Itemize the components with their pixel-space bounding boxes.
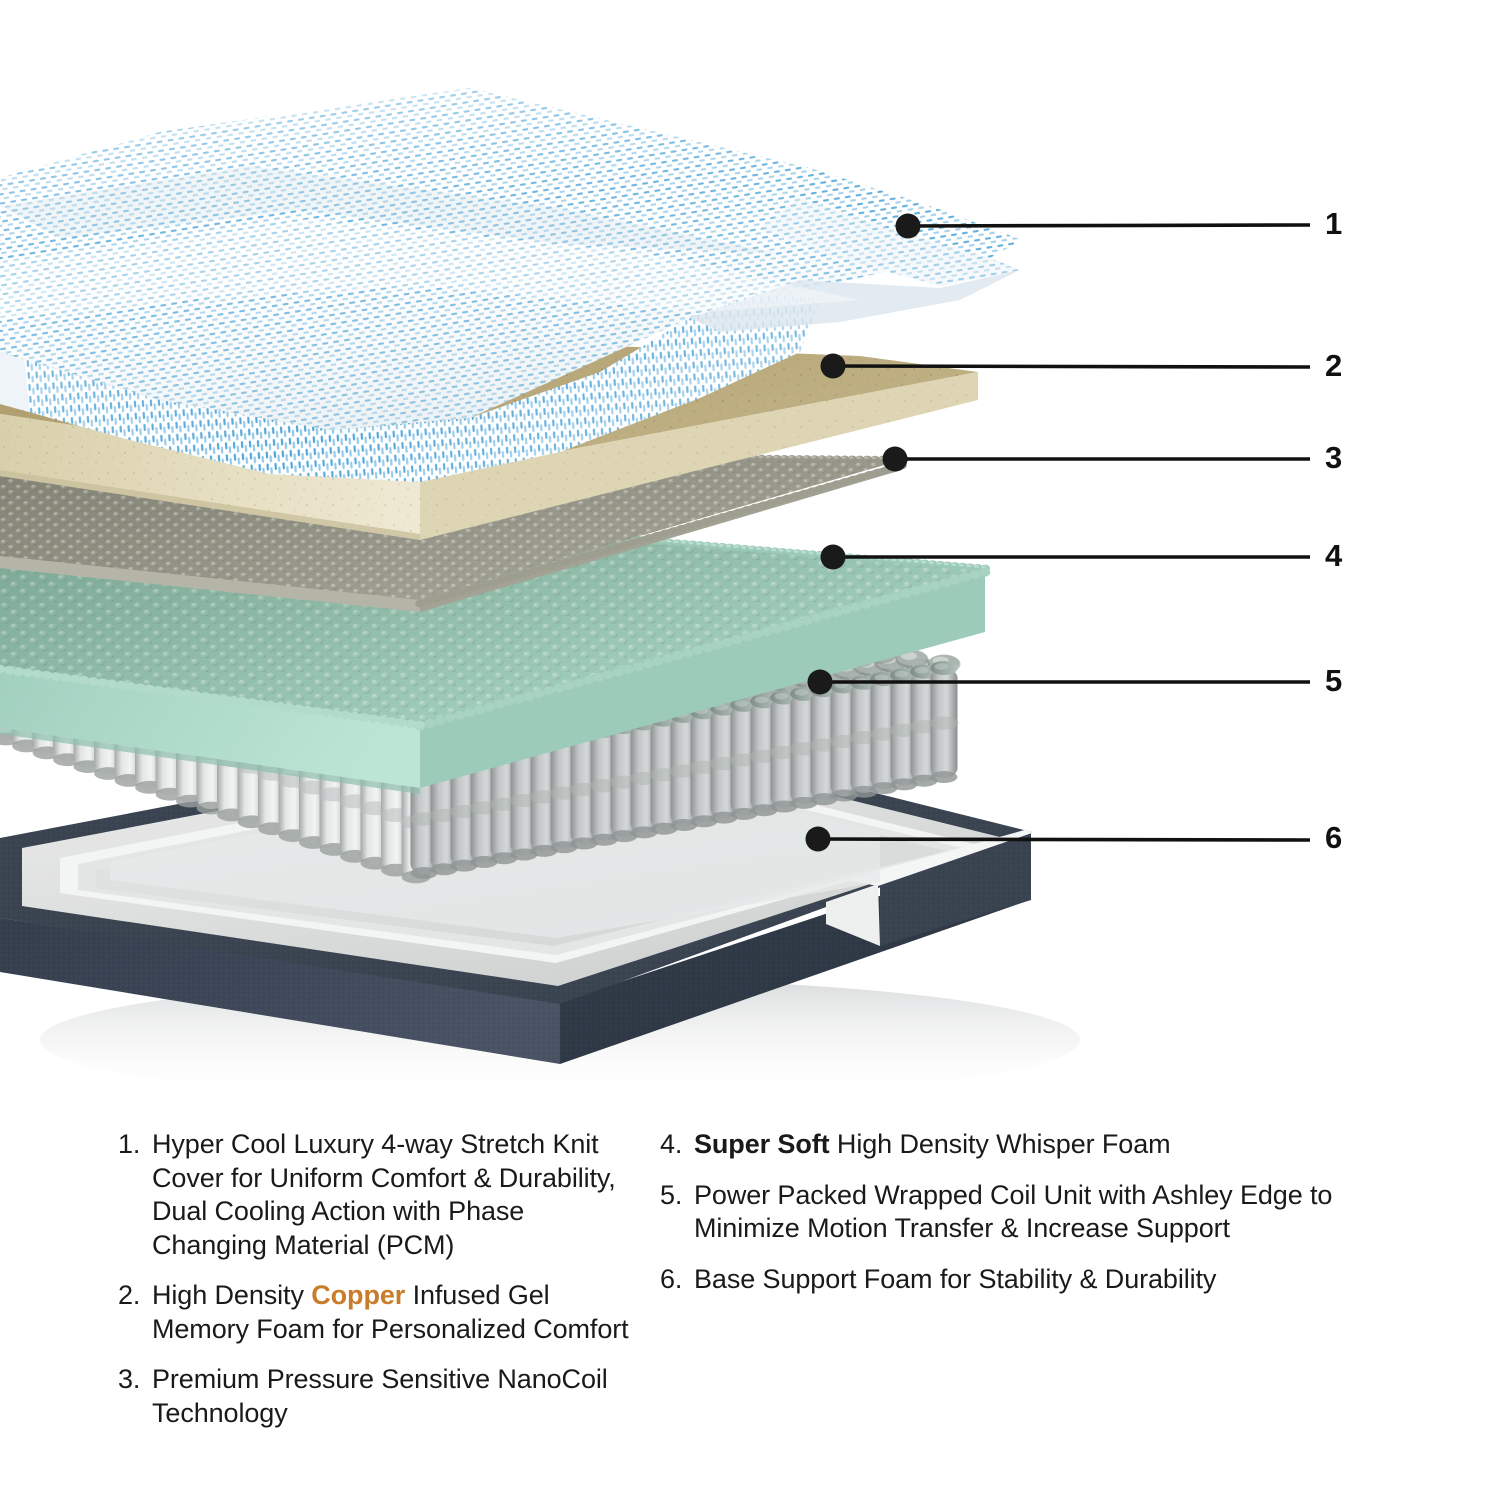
coil-cap: [880, 594, 891, 603]
coil-cap: [915, 667, 929, 674]
coil-cap: [505, 574, 515, 582]
coil-cap: [821, 611, 832, 620]
coil-cap: [758, 456, 762, 459]
legend-column-left: 1. Hyper Cool Luxury 4-way Stretch Knit …: [0, 1128, 640, 1447]
coil-cap: [494, 700, 505, 709]
coil-cap: [864, 456, 868, 459]
coil-cap: [762, 627, 773, 636]
coil-cap: [766, 456, 770, 459]
coil-cap: [841, 456, 845, 459]
coil-cap: [23, 668, 33, 677]
coil-cap: [750, 504, 760, 512]
coil-cap: [875, 674, 889, 681]
coil-cap: [135, 683, 145, 692]
coil-cap: [673, 540, 678, 543]
callout-number-6: 6: [1325, 822, 1342, 853]
coil-cap: [807, 487, 817, 495]
coil-cap: [238, 697, 248, 706]
coil-cap: [906, 559, 911, 562]
coil-cap: [489, 579, 499, 587]
legend-text-4: Super Soft High Density Whisper Foam: [694, 1128, 1340, 1162]
copper-highlight: Copper: [311, 1280, 405, 1310]
coil-cap: [668, 527, 678, 535]
coil-cap: [681, 541, 686, 544]
coil-cap: [766, 499, 776, 507]
coil-cap: [950, 576, 961, 585]
coil-cap: [662, 654, 673, 663]
coil-cap: [633, 662, 644, 671]
coil-cap: [742, 632, 753, 641]
coil-cap: [396, 718, 406, 727]
coil-cap: [172, 688, 182, 697]
legend-item-6: 6. Base Support Foam for Stability & Dur…: [660, 1263, 1340, 1297]
coil-cap: [873, 469, 883, 477]
coil-cap: [191, 691, 201, 700]
coil-cap: [595, 548, 605, 556]
legend-text-3: Premium Pressure Sensitive NanoCoil Tech…: [152, 1363, 640, 1430]
coil-cap: [794, 550, 799, 553]
coil-cap: [521, 569, 531, 577]
coil-cap: [711, 543, 716, 546]
coil-cap: [840, 478, 850, 486]
coil-cap: [406, 719, 416, 728]
coil-cap: [717, 513, 727, 521]
callout-number-5: 5: [1325, 665, 1342, 696]
legend-item-4: 4. Super Soft High Density Whisper Foam: [660, 1128, 1340, 1162]
coil-cap: [454, 711, 465, 720]
legend-text-1: Hyper Cool Luxury 4-way Stretch Knit Cov…: [152, 1128, 640, 1262]
coil-cap: [4, 666, 14, 675]
coil-cap: [861, 600, 872, 609]
coil-cap: [824, 483, 834, 491]
leader-line-1: [908, 225, 1310, 226]
coil-cap: [929, 561, 934, 564]
coil-cap: [959, 564, 964, 567]
coil-cap: [741, 546, 746, 549]
coil-cap: [682, 648, 693, 657]
coil-cap: [771, 624, 782, 633]
coil-cap: [573, 678, 584, 687]
coil-cap: [774, 456, 778, 459]
coil-cap: [583, 675, 594, 684]
coil-cap: [920, 584, 931, 593]
coil-cap: [755, 697, 769, 704]
coil-cap: [368, 714, 378, 723]
legend-number-6: 6.: [660, 1263, 694, 1297]
coil-cap: [809, 551, 814, 554]
coil-cap: [456, 588, 466, 596]
coil-cap: [497, 576, 507, 584]
coil-cap: [914, 560, 919, 563]
legend: 1. Hyper Cool Luxury 4-way Stretch Knit …: [0, 1128, 1500, 1500]
callout-number-1: 1: [1325, 208, 1342, 239]
coil-cap: [921, 561, 926, 564]
coil-cap: [163, 687, 173, 696]
coil-cap: [415, 721, 425, 730]
coil-cap: [98, 678, 108, 687]
coil-cap: [42, 671, 52, 680]
coil-cap: [781, 456, 785, 459]
coil-cap: [796, 456, 800, 459]
coil-cap: [228, 696, 238, 705]
coil-cap: [758, 501, 768, 509]
coil-cap: [284, 703, 294, 712]
coil-cap: [256, 699, 266, 708]
coil-cap: [481, 581, 491, 589]
coil-cap: [970, 570, 981, 579]
coil-cap: [756, 547, 761, 550]
coil-cap: [702, 643, 713, 652]
legend-number-1: 1.: [118, 1128, 152, 1162]
coil-cap: [579, 553, 589, 561]
coil-cap: [930, 581, 941, 590]
coil-cap: [619, 541, 629, 549]
coil-cap: [811, 613, 822, 622]
coil-cap: [587, 551, 597, 559]
coil-cap: [779, 549, 784, 552]
coil-cap: [613, 667, 624, 676]
coil-cap: [944, 562, 949, 565]
coil-cap: [570, 555, 580, 563]
coil-cap: [895, 671, 909, 678]
coil-cap: [789, 456, 793, 459]
coil-cap: [472, 583, 482, 591]
coil-cap: [775, 693, 789, 700]
coil-cap: [677, 525, 687, 533]
coil-cap: [709, 515, 719, 523]
coil-cap: [116, 681, 126, 690]
coil-cap: [530, 567, 540, 575]
coil-cap: [14, 667, 24, 676]
coil-cap: [693, 520, 703, 528]
coil-cap: [107, 680, 117, 689]
coil-cap: [960, 573, 971, 582]
coil-cap: [703, 543, 708, 546]
coil-cap: [88, 677, 98, 686]
callout-number-3: 3: [1325, 442, 1342, 473]
coil-cap: [666, 540, 671, 543]
coil-cap: [275, 702, 285, 711]
coil-cap: [801, 616, 812, 625]
coil-cap: [819, 456, 823, 459]
leader-dot-5: [808, 670, 833, 695]
legend-number-3: 3.: [118, 1363, 152, 1397]
coil-cap: [804, 456, 808, 459]
coil-cap: [732, 635, 743, 644]
coil-cap: [851, 603, 862, 612]
legend-text-5: Power Packed Wrapped Coil Unit with Ashl…: [694, 1179, 1340, 1246]
coil-cap: [826, 456, 830, 459]
coil-cap: [378, 716, 388, 725]
coil-cap: [484, 702, 495, 711]
legend-item-3: 3. Premium Pressure Sensitive NanoCoil T…: [118, 1363, 640, 1430]
coil-cap: [79, 676, 89, 685]
coil-cap: [734, 508, 744, 516]
coil-cap: [538, 565, 548, 573]
coil-cap: [294, 704, 304, 713]
coil-cap: [464, 586, 474, 594]
coil-cap: [832, 480, 842, 488]
coil-cap: [554, 560, 564, 568]
coil-cap: [210, 693, 220, 702]
coil-cap: [726, 545, 731, 548]
coil-cap: [266, 701, 276, 710]
diagram-page: 1 2 3 4 5 6 1. Hyper Cool Luxury 4-way S…: [0, 0, 1500, 1500]
coil-cap: [701, 518, 711, 526]
leader-dot-6: [806, 827, 831, 852]
coil-cap: [718, 544, 723, 547]
coil-cap: [791, 619, 802, 628]
mattress-exploded-diagram: 1 2 3 4 5 6: [0, 0, 1500, 1120]
coil-cap: [444, 713, 455, 722]
coil-cap: [440, 593, 450, 601]
legend-text-2: High Density Copper Infused Gel Memory F…: [152, 1279, 640, 1346]
coil-cap: [464, 708, 475, 717]
coil-cap: [350, 712, 360, 721]
coil-cap: [712, 640, 723, 649]
coil-cap: [872, 457, 876, 460]
coil-cap: [611, 544, 621, 552]
leader-line-6: [818, 839, 1310, 840]
coil-cap: [182, 689, 192, 698]
coil-cap: [966, 564, 971, 567]
coil-cap: [795, 689, 809, 696]
coil-cap: [685, 523, 695, 531]
coil-cap: [562, 558, 572, 566]
coil-cap: [628, 539, 638, 547]
coil-cap: [841, 605, 852, 614]
coil-cap: [563, 681, 574, 690]
coil-cap: [524, 692, 535, 701]
coil-cap: [940, 578, 951, 587]
coil-cap: [432, 595, 442, 603]
coil-cap: [423, 597, 433, 605]
coil-cap: [312, 707, 322, 716]
coil-cap: [546, 562, 556, 570]
super-soft-bold: Super Soft: [694, 1129, 830, 1159]
coil-cap: [415, 600, 425, 608]
coil-cap: [890, 592, 901, 601]
coil-cap: [51, 672, 61, 681]
coil-cap: [834, 456, 838, 459]
coil-cap: [603, 546, 613, 554]
coil-cap: [513, 572, 523, 580]
coil-cap: [951, 563, 956, 566]
coil-cap: [322, 708, 332, 717]
coil-cap: [831, 608, 842, 617]
coil-cap: [856, 456, 860, 459]
coil-cap: [154, 686, 164, 695]
coil-cap: [781, 621, 792, 630]
leader-dot-3: [883, 447, 908, 472]
coil-cap: [636, 537, 646, 545]
coil-cap: [910, 586, 921, 595]
coil-cap: [303, 706, 313, 715]
coil-cap: [726, 511, 736, 519]
coil-cap: [801, 551, 806, 554]
coil-cap: [764, 548, 769, 551]
leader-dot-2: [821, 354, 846, 379]
coil-cap: [126, 682, 136, 691]
coil-cap: [672, 651, 683, 660]
coil-cinch: [929, 716, 958, 729]
coil-cap: [696, 542, 701, 545]
coil-cap: [816, 552, 821, 555]
coil-cap: [849, 456, 853, 459]
coil-cap: [688, 541, 693, 544]
coil-cap: [771, 548, 776, 551]
coil-cap: [474, 705, 485, 714]
coil-cap: [733, 545, 738, 548]
coil-cap: [783, 494, 793, 502]
callout-number-2: 2: [1325, 350, 1342, 381]
legend-number-2: 2.: [118, 1279, 152, 1313]
coil-cap: [652, 657, 663, 666]
coil-cap: [593, 673, 604, 682]
coil-cap: [980, 567, 991, 576]
coil-cap: [660, 530, 670, 538]
coil-cap: [871, 597, 882, 606]
coil-cap: [791, 492, 801, 500]
coil-cap: [553, 684, 564, 693]
coil-cap: [32, 670, 42, 679]
legend-column-right: 4. Super Soft High Density Whisper Foam …: [640, 1128, 1340, 1313]
callout-number-4: 4: [1325, 540, 1342, 571]
coil-cap: [623, 665, 634, 674]
coil-cap: [799, 490, 809, 498]
coil-cap: [900, 589, 911, 598]
coil-cap: [434, 716, 445, 725]
coil-cap: [974, 565, 979, 568]
coil-cap: [144, 685, 154, 694]
coil-cap: [786, 549, 791, 552]
coil-cap: [70, 675, 80, 684]
coil-cap: [722, 638, 733, 647]
coil-cap: [387, 717, 397, 726]
coil-cap: [60, 673, 70, 682]
coil-cap: [200, 692, 210, 701]
legend-text-6: Base Support Foam for Stability & Durabi…: [694, 1263, 1340, 1297]
legend-item-5: 5. Power Packed Wrapped Coil Unit with A…: [660, 1179, 1340, 1246]
coil-cap: [504, 697, 515, 706]
coil-cap: [331, 709, 341, 718]
coil-cap: [340, 711, 350, 720]
coil-cap: [514, 694, 525, 703]
leader-dot-4: [821, 545, 846, 570]
coil-cap: [534, 689, 545, 698]
coil-cap: [865, 471, 875, 479]
coil-cap: [748, 546, 753, 549]
coil-cap: [752, 630, 763, 639]
coil-cap: [543, 686, 554, 695]
coil-cap: [359, 713, 369, 722]
coil-cap: [603, 670, 614, 679]
coil-cap: [448, 590, 458, 598]
coil-cap: [899, 559, 904, 562]
coil-cap: [644, 534, 654, 542]
coil-cap: [735, 700, 749, 707]
coil-cap: [425, 719, 436, 728]
legend-item-1: 1. Hyper Cool Luxury 4-way Stretch Knit …: [118, 1128, 640, 1262]
coil-cap: [848, 476, 858, 484]
diagram-svg: [0, 0, 1500, 1120]
legend-number-4: 4.: [660, 1128, 694, 1162]
coil-cap: [652, 532, 662, 540]
coil-cap: [816, 485, 826, 493]
coil-cap: [811, 456, 815, 459]
coil-cap: [931, 771, 958, 783]
coil-cap: [935, 663, 949, 670]
leader-line-2: [833, 366, 1310, 367]
coil-cap: [936, 562, 941, 565]
coil-cap: [775, 497, 785, 505]
coil-cap: [692, 646, 703, 655]
legend-number-5: 5.: [660, 1179, 694, 1213]
coil-cap: [247, 698, 257, 707]
leader-dot-1: [896, 214, 921, 239]
coil-cap: [643, 659, 654, 668]
coil-cap: [856, 473, 866, 481]
coil-cap: [742, 506, 752, 514]
legend-item-2: 2. High Density Copper Infused Gel Memor…: [118, 1279, 640, 1346]
coil-cap: [219, 694, 229, 703]
